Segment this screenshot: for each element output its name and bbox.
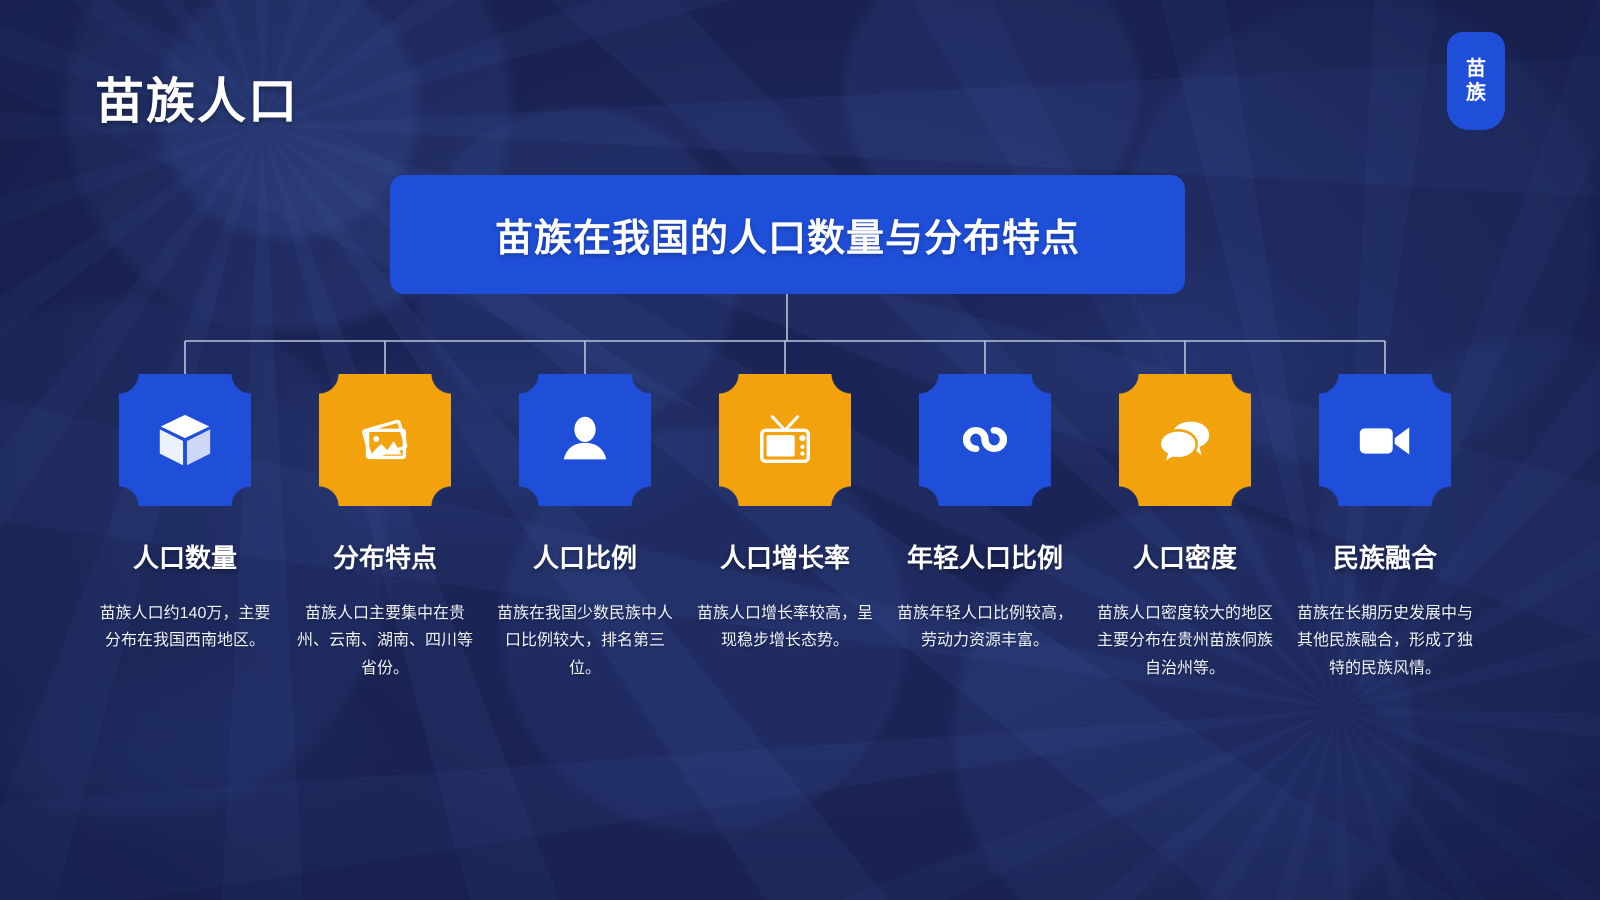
card-population-density[interactable]: 人口密度 苗族人口密度较大的地区主要分布在贵州苗族侗族自治州等。 bbox=[1085, 374, 1285, 682]
card-body: 苗族人口密度较大的地区主要分布在贵州苗族侗族自治州等。 bbox=[1096, 600, 1274, 683]
slide-canvas: 苗族人口 苗 族 苗族在我国的人口数量与分布特点 bbox=[0, 0, 1600, 900]
card-body: 苗族在我国少数民族中人口比例较大，排名第三位。 bbox=[496, 600, 674, 683]
card-ethnic-integration[interactable]: 民族融合 苗族在长期历史发展中与其他民族融合，形成了独特的民族风情。 bbox=[1285, 374, 1485, 682]
card-heading: 人口增长率 bbox=[695, 542, 875, 576]
chat-bubbles-icon bbox=[1154, 409, 1216, 471]
card-body: 苗族人口增长率较高，呈现稳步增长态势。 bbox=[696, 600, 874, 655]
infinity-link-icon bbox=[954, 409, 1016, 471]
person-icon bbox=[554, 409, 616, 471]
card-heading: 民族融合 bbox=[1295, 542, 1475, 576]
television-icon-tile[interactable] bbox=[719, 374, 851, 506]
card-body: 苗族人口约140万，主要分布在我国西南地区。 bbox=[96, 600, 274, 655]
card-heading: 分布特点 bbox=[295, 542, 475, 576]
card-heading: 年轻人口比例 bbox=[895, 542, 1075, 576]
card-body: 苗族在长期历史发展中与其他民族融合，形成了独特的民族风情。 bbox=[1296, 600, 1474, 683]
photos-icon-tile[interactable] bbox=[319, 374, 451, 506]
television-icon bbox=[754, 409, 816, 471]
card-body: 苗族人口主要集中在贵州、云南、湖南、四川等省份。 bbox=[296, 600, 474, 683]
cube-icon bbox=[154, 409, 216, 471]
card-body: 苗族年轻人口比例较高，劳动力资源丰富。 bbox=[896, 600, 1074, 655]
card-heading: 人口数量 bbox=[95, 542, 275, 576]
video-camera-icon bbox=[1354, 409, 1416, 471]
cards-row: 人口数量 苗族人口约140万，主要分布在我国西南地区。 分布特点 苗族人口主要集… bbox=[0, 374, 1600, 682]
person-icon-tile[interactable] bbox=[519, 374, 651, 506]
card-population-ratio[interactable]: 人口比例 苗族在我国少数民族中人口比例较大，排名第三位。 bbox=[485, 374, 685, 682]
cube-icon-tile[interactable] bbox=[119, 374, 251, 506]
infinity-link-icon-tile[interactable] bbox=[919, 374, 1051, 506]
card-growth-rate[interactable]: 人口增长率 苗族人口增长率较高，呈现稳步增长态势。 bbox=[685, 374, 885, 682]
video-camera-icon-tile[interactable] bbox=[1319, 374, 1451, 506]
card-heading: 人口密度 bbox=[1095, 542, 1275, 576]
card-young-population-ratio[interactable]: 年轻人口比例 苗族年轻人口比例较高，劳动力资源丰富。 bbox=[885, 374, 1085, 682]
card-heading: 人口比例 bbox=[495, 542, 675, 576]
photos-icon bbox=[354, 409, 416, 471]
card-population-count[interactable]: 人口数量 苗族人口约140万，主要分布在我国西南地区。 bbox=[85, 374, 285, 682]
card-distribution-features[interactable]: 分布特点 苗族人口主要集中在贵州、云南、湖南、四川等省份。 bbox=[285, 374, 485, 682]
chat-bubbles-icon-tile[interactable] bbox=[1119, 374, 1251, 506]
